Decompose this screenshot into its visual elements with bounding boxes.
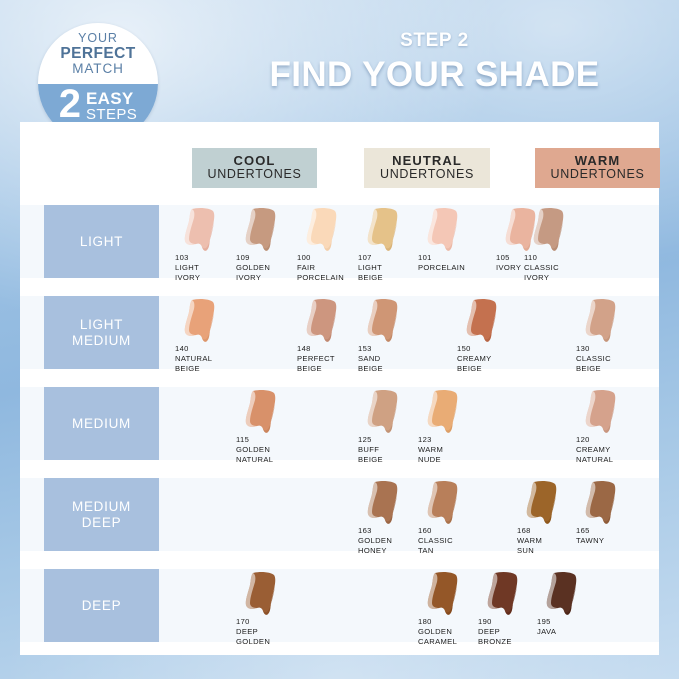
shade-number: 101 [418,253,465,263]
row-label-line: LIGHT [80,234,123,249]
infographic-canvas: YOUR PERFECT MATCH 2 EASY STEPS STEP 2 F… [0,0,679,679]
shade-number: 190 [478,617,512,627]
shade-name: WARM SUN [517,536,542,555]
foundation-swatch-icon [528,207,572,253]
shade-caption: 125BUFF BEIGE [358,435,383,465]
shade-swatch[interactable]: 148PERFECT BEIGE [297,296,359,369]
shade-name: WARM NUDE [418,445,443,464]
shade-swatch[interactable]: 153SAND BEIGE [358,296,420,369]
row-label-line: DEEP [82,598,122,613]
foundation-swatch-icon [362,298,406,344]
shade-swatch[interactable]: 168WARM SUN [517,478,579,551]
shade-caption: 123WARM NUDE [418,435,443,465]
shade-name: DEEP GOLDEN [236,627,270,646]
shade-number: 140 [175,344,212,354]
shade-swatch[interactable]: 123WARM NUDE [418,387,480,460]
row-label-line: MEDIUM [72,499,131,514]
shade-swatch[interactable]: 130CLASSIC BEIGE [576,296,638,369]
foundation-swatch-icon [362,207,406,253]
badge-label-steps: STEPS [86,107,137,122]
shade-name: FAIR PORCELAIN [297,263,344,282]
shade-caption: 190DEEP BRONZE [478,617,512,647]
foundation-swatch-icon [362,389,406,435]
shade-number: 120 [576,435,613,445]
shade-name: GOLDEN IVORY [236,263,270,282]
shade-caption: 100FAIR PORCELAIN [297,253,344,283]
shade-number: 180 [418,617,457,627]
shade-caption: 109GOLDEN IVORY [236,253,270,283]
badge-top-text: YOUR PERFECT MATCH [38,32,158,77]
shade-swatch[interactable]: 140NATURAL BEIGE [175,296,237,369]
shade-swatch[interactable]: 170DEEP GOLDEN [236,569,298,642]
page-title: FIND YOUR SHADE [200,55,669,95]
row-label-light: LIGHT [44,205,159,278]
shade-name: DEEP BRONZE [478,627,512,646]
row-label-line: DEEP [82,515,122,530]
shade-name: SAND BEIGE [358,354,383,373]
shade-name: CLASSIC IVORY [524,263,559,282]
shade-name: PERFECT BEIGE [297,354,335,373]
shade-swatch[interactable]: 110CLASSIC IVORY [524,205,586,278]
shade-number: 130 [576,344,611,354]
shade-caption: 153SAND BEIGE [358,344,383,374]
shade-number: 105 [496,253,521,263]
undertone-sublabel: UNDERTONES [380,168,474,181]
shade-name: JAVA [537,627,556,636]
badge-line-match: MATCH [38,62,158,77]
shade-swatch[interactable]: 100FAIR PORCELAIN [297,205,359,278]
badge-label-easy: EASY [86,90,137,107]
row-label-light-medium: LIGHTMEDIUM [44,296,159,369]
shade-caption: 163GOLDEN HONEY [358,526,392,556]
shade-caption: 160CLASSIC TAN [418,526,453,556]
undertone-name: NEUTRAL [392,154,462,168]
shade-number: 110 [524,253,559,263]
shade-swatch[interactable]: 120CREAMY NATURAL [576,387,638,460]
shade-number: 150 [457,344,492,354]
shade-number: 125 [358,435,383,445]
shade-number: 170 [236,617,270,627]
shade-caption: 110CLASSIC IVORY [524,253,559,283]
shade-name: GOLDEN HONEY [358,536,392,555]
shade-swatch[interactable]: 160CLASSIC TAN [418,478,480,551]
row-label-line: MEDIUM [72,416,131,431]
row-label-line: LIGHT [80,317,123,332]
shade-caption: 140NATURAL BEIGE [175,344,212,374]
shade-row: LIGHTMEDIUM140NATURAL BEIGE148PERFECT BE… [20,296,659,369]
shade-name: PORCELAIN [418,263,465,272]
badge-line-perfect: PERFECT [38,46,158,63]
shade-name: LIGHT BEIGE [358,263,383,282]
foundation-swatch-icon [362,480,406,526]
shade-number: 115 [236,435,273,445]
foundation-swatch-icon [482,571,526,617]
shade-number: 109 [236,253,270,263]
shade-swatch[interactable]: 165TAWNY [576,478,638,551]
shade-number: 148 [297,344,335,354]
shade-swatch[interactable]: 101PORCELAIN [418,205,480,278]
foundation-swatch-icon [179,298,223,344]
badge-line-your: YOUR [38,32,158,46]
undertone-sublabel: UNDERTONES [550,168,644,181]
shade-name: CREAMY BEIGE [457,354,492,373]
shade-name: IVORY [496,263,521,272]
foundation-swatch-icon [461,298,505,344]
shade-caption: 168WARM SUN [517,526,542,556]
foundation-swatch-icon [240,389,284,435]
shade-name: LIGHT IVORY [175,263,200,282]
foundation-swatch-icon [422,207,466,253]
step-label: STEP 2 [200,30,669,52]
shade-caption: 115GOLDEN NATURAL [236,435,273,465]
foundation-swatch-icon [240,571,284,617]
shade-caption: 120CREAMY NATURAL [576,435,613,465]
shade-number: 100 [297,253,344,263]
undertone-name: WARM [575,154,621,168]
foundation-swatch-icon [422,571,466,617]
shade-swatch[interactable]: 180GOLDEN CARAMEL [418,569,480,642]
shade-caption: 103LIGHT IVORY [175,253,200,283]
undertone-header-cool: COOLUNDERTONES [192,148,317,188]
shade-name: CLASSIC BEIGE [576,354,611,373]
badge-easy-steps: EASY STEPS [86,86,137,122]
shade-row: DEEP170DEEP GOLDEN180GOLDEN CARAMEL190DE… [20,569,659,642]
shade-swatch[interactable]: 103LIGHT IVORY [175,205,237,278]
badge-step-number: 2 [59,86,81,123]
shade-swatch[interactable]: 115GOLDEN NATURAL [236,387,298,460]
shade-caption: 105IVORY [496,253,521,273]
badge-bottom-text: 2 EASY STEPS [38,86,158,123]
shade-swatch[interactable]: 190DEEP BRONZE [478,569,540,642]
undertone-sublabel: UNDERTONES [207,168,301,181]
shade-caption: 148PERFECT BEIGE [297,344,335,374]
shade-caption: 130CLASSIC BEIGE [576,344,611,374]
shade-caption: 150CREAMY BEIGE [457,344,492,374]
header-block: STEP 2 FIND YOUR SHADE [200,30,669,95]
shade-caption: 195JAVA [537,617,556,637]
shade-swatch[interactable]: 107LIGHT BEIGE [358,205,420,278]
shade-name: TAWNY [576,536,604,545]
shade-number: 195 [537,617,556,627]
shade-swatch[interactable]: 150CREAMY BEIGE [457,296,519,369]
foundation-swatch-icon [580,389,624,435]
shade-number: 165 [576,526,604,536]
shade-chart-card: COOLUNDERTONESNEUTRALUNDERTONESWARMUNDER… [20,122,659,655]
shade-row: MEDIUMDEEP163GOLDEN HONEY160CLASSIC TAN1… [20,478,659,551]
foundation-swatch-icon [301,207,345,253]
foundation-swatch-icon [580,298,624,344]
shade-number: 160 [418,526,453,536]
row-label-medium-deep: MEDIUMDEEP [44,478,159,551]
shade-caption: 170DEEP GOLDEN [236,617,270,647]
foundation-swatch-icon [240,207,284,253]
shade-number: 168 [517,526,542,536]
shade-number: 103 [175,253,200,263]
shade-caption: 180GOLDEN CARAMEL [418,617,457,647]
shade-name: GOLDEN NATURAL [236,445,273,464]
shade-number: 163 [358,526,392,536]
row-label-deep: DEEP [44,569,159,642]
foundation-swatch-icon [521,480,565,526]
foundation-swatch-icon [541,571,585,617]
shade-row: MEDIUM115GOLDEN NATURAL125BUFF BEIGE123W… [20,387,659,460]
foundation-swatch-icon [422,389,466,435]
shade-caption: 165TAWNY [576,526,604,546]
row-label-medium: MEDIUM [44,387,159,460]
shade-row: LIGHT103LIGHT IVORY109GOLDEN IVORY100FAI… [20,205,659,278]
foundation-swatch-icon [301,298,345,344]
shade-caption: 101PORCELAIN [418,253,465,273]
undertone-header-neutral: NEUTRALUNDERTONES [364,148,490,188]
shade-swatch[interactable]: 195JAVA [537,569,599,642]
shade-name: NATURAL BEIGE [175,354,212,373]
shade-swatch[interactable]: 163GOLDEN HONEY [358,478,420,551]
shade-caption: 107LIGHT BEIGE [358,253,383,283]
undertone-header-warm: WARMUNDERTONES [535,148,660,188]
shade-number: 153 [358,344,383,354]
undertone-name: COOL [234,154,276,168]
shade-name: CLASSIC TAN [418,536,453,555]
shade-name: CREAMY NATURAL [576,445,613,464]
shade-name: BUFF BEIGE [358,445,383,464]
row-label-line: MEDIUM [72,333,131,348]
foundation-swatch-icon [179,207,223,253]
shade-swatch[interactable]: 109GOLDEN IVORY [236,205,298,278]
shade-swatch[interactable]: 125BUFF BEIGE [358,387,420,460]
shade-number: 107 [358,253,383,263]
foundation-swatch-icon [422,480,466,526]
foundation-swatch-icon [580,480,624,526]
shade-number: 123 [418,435,443,445]
shade-name: GOLDEN CARAMEL [418,627,457,646]
